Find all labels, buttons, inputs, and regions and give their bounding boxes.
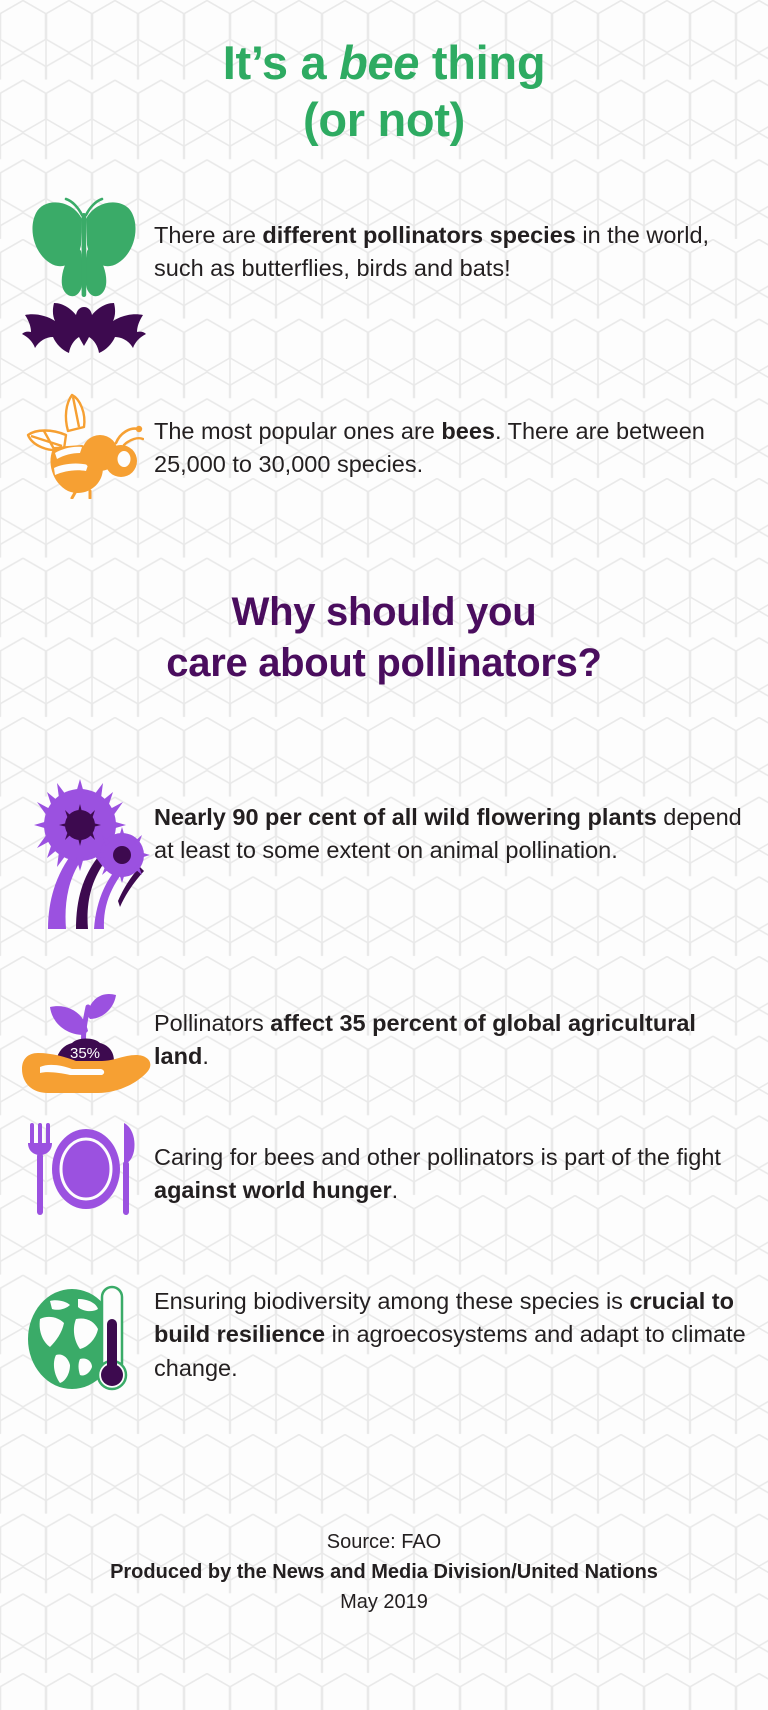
text-segment: Pollinators: [154, 1010, 270, 1036]
section-heading: Why should you care about pollinators?: [0, 587, 768, 689]
text-segment: Caring for bees and other pollinators is…: [154, 1144, 721, 1170]
fact-row-pollinator-species: There are different pollinators species …: [0, 197, 768, 357]
footer: Source: FAO Produced by the News and Med…: [0, 1527, 768, 1617]
butterfly-icon: [28, 197, 140, 307]
globe-thermometer-icon: [22, 1279, 146, 1399]
fact-row-climate-resilience: Ensuring biodiversity among these specie…: [0, 1279, 768, 1399]
text-segment-bold: different pollinators species: [262, 222, 575, 248]
title-part-post: thing: [419, 36, 545, 89]
bee-icon: [24, 391, 144, 499]
flower-small: [94, 827, 150, 883]
text-segment: .: [392, 1177, 399, 1203]
text-segment: Ensuring biodiversity among these specie…: [154, 1288, 629, 1314]
infographic-page: It’s a bee thing (or not): [0, 0, 768, 1710]
text-segment-bold: against world hunger: [154, 1177, 392, 1203]
fact-row-bee-species-count: The most popular ones are bees. There ar…: [0, 391, 768, 499]
fact-text-wild-flowering-plants: Nearly 90 per cent of all wild flowering…: [154, 771, 746, 868]
text-segment: The most popular ones are: [154, 418, 441, 444]
icon-group-globe-thermometer: [14, 1279, 154, 1399]
text-segment: There are: [154, 222, 262, 248]
fact-row-wild-flowering-plants: Nearly 90 per cent of all wild flowering…: [0, 771, 768, 931]
footer-source: Source: FAO: [0, 1527, 768, 1557]
section-heading-line-1: Why should you: [0, 587, 768, 638]
fact-text-pollinator-species: There are different pollinators species …: [154, 197, 746, 286]
fact-text-agricultural-land: Pollinators affect 35 percent of global …: [154, 963, 746, 1074]
footer-date: May 2019: [0, 1587, 768, 1617]
plate-cutlery-icon: [24, 1117, 144, 1217]
text-segment-bold: Nearly 90 per cent of all wild flowering…: [154, 804, 657, 830]
main-title: It’s a bee thing (or not): [0, 0, 768, 149]
icon-group-butterfly-bat: [14, 197, 154, 357]
flowers-icon: [18, 771, 150, 931]
fact-row-world-hunger: Caring for bees and other pollinators is…: [0, 1117, 768, 1217]
icon-group-seedling-in-hand: 35%: [14, 963, 154, 1095]
fact-text-climate-resilience: Ensuring biodiversity among these specie…: [154, 1279, 746, 1385]
fact-text-world-hunger: Caring for bees and other pollinators is…: [154, 1117, 746, 1208]
bat-icon: [22, 301, 146, 357]
fact-text-bee-species-count: The most popular ones are bees. There ar…: [154, 391, 746, 482]
text-segment-bold: bees: [441, 418, 495, 444]
title-part-pre: It’s a: [223, 36, 339, 89]
fact-row-agricultural-land: 35% Pollinators affect 35 percent of glo…: [0, 963, 768, 1095]
percentage-badge-label: 35%: [70, 1045, 100, 1062]
title-part-emphasis: bee: [339, 36, 419, 89]
title-line-2: (or not): [0, 91, 768, 148]
text-segment: .: [202, 1043, 209, 1069]
seedling-in-hand-icon: 35%: [14, 963, 154, 1095]
section-heading-line-2: care about pollinators?: [0, 638, 768, 689]
title-line-1: It’s a bee thing: [0, 34, 768, 91]
icon-group-bee: [14, 391, 154, 499]
footer-produced-by: Produced by the News and Media Division/…: [0, 1557, 768, 1587]
icon-group-flowers: [14, 771, 154, 931]
icon-group-plate-cutlery: [14, 1117, 154, 1217]
